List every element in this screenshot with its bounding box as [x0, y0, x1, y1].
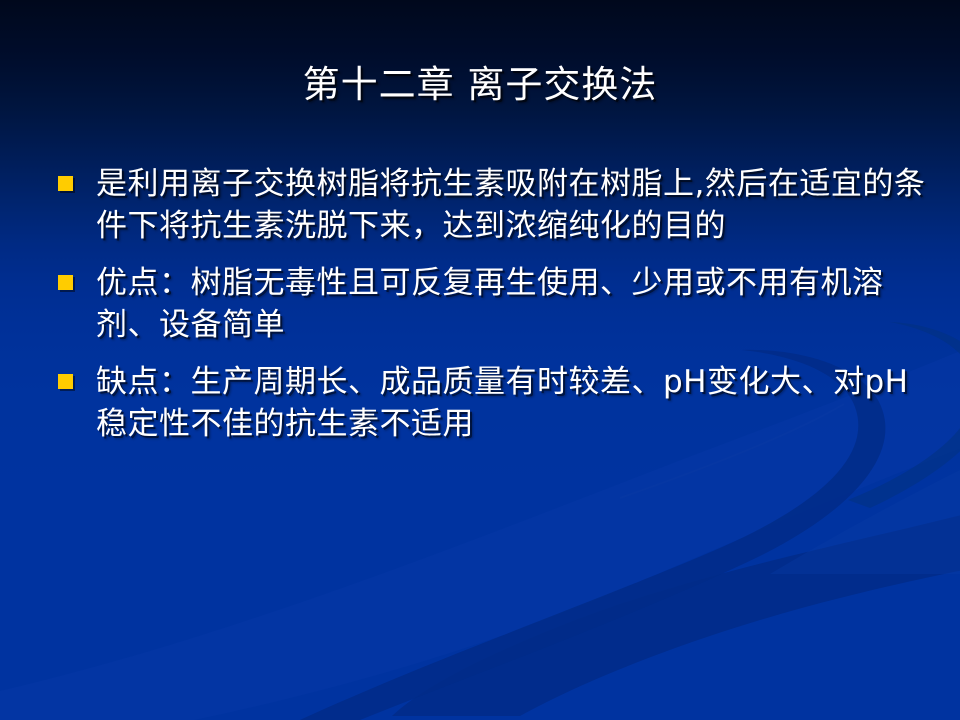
bullet-item-1-text: 是利用离子交换树脂将抗生素吸附在树脂上,然后在适宜的条件下将抗生素洗脱下来，达到…	[96, 166, 925, 244]
bullet-item-1: 是利用离子交换树脂将抗生素吸附在树脂上,然后在适宜的条件下将抗生素洗脱下来，达到…	[52, 163, 928, 248]
bullet-item-3-text: 缺点：生产周期长、成品质量有时较差、pH变化大、对pH稳定性不佳的抗生素不适用	[96, 364, 908, 442]
square-bullet-icon	[58, 176, 73, 191]
bullet-item-2: 优点：树脂无毒性且可反复再生使用、少用或不用有机溶剂、设备简单	[52, 262, 928, 347]
slide-title: 第十二章 离子交换法	[0, 62, 960, 108]
square-bullet-icon	[58, 275, 73, 290]
swoosh-edge-highlight	[770, 470, 960, 574]
swoosh-dark-lower	[392, 505, 960, 716]
bullet-item-2-text: 优点：树脂无毒性且可反复再生使用、少用或不用有机溶剂、设备简单	[96, 265, 884, 343]
presentation-slide: 第十二章 离子交换法 是利用离子交换树脂将抗生素吸附在树脂上,然后在适宜的条件下…	[0, 0, 960, 720]
bullet-item-3: 缺点：生产周期长、成品质量有时较差、pH变化大、对pH稳定性不佳的抗生素不适用	[52, 361, 928, 446]
slide-body: 是利用离子交换树脂将抗生素吸附在树脂上,然后在适宜的条件下将抗生素洗脱下来，达到…	[52, 163, 928, 460]
square-bullet-icon	[58, 374, 73, 389]
